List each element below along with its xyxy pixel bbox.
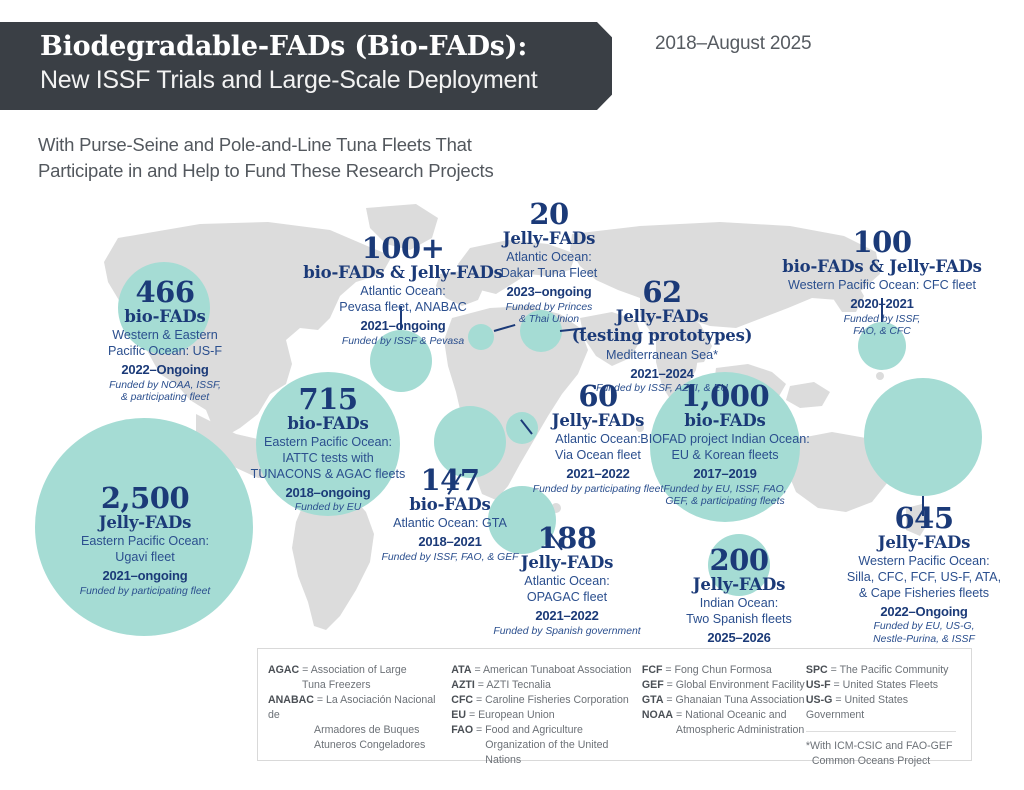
legend-item: FCF = Fong Chun Formosa (642, 663, 806, 678)
callout-where: Western Pacific Ocean: Silla, CFC, FCF, … (838, 554, 1010, 601)
callout-value: 466 (104, 278, 226, 307)
footnote-line-1: *With ICM-CSIC and FAO-GEF (806, 739, 961, 754)
legend-abbr: EU (451, 709, 466, 721)
callout-years: 2022–Ongoing (104, 362, 226, 378)
callout-cfc: 100 bio-FADs & Jelly-FADs Western Pacifi… (780, 228, 984, 339)
callout-unit: Jelly-FADs (473, 554, 661, 572)
legend-abbr: CFC (451, 694, 473, 706)
legend-def-cont: Armadores de Buques (268, 723, 445, 738)
legend-item: EU = European Union (451, 708, 642, 723)
legend-column-2: ATA = American Tunaboat Association AZTI… (451, 663, 642, 750)
callout-funded: Funded by ISSF & Pevasa (300, 336, 506, 349)
callout-unit: bio-FADs (362, 496, 538, 514)
callout-years: 2017–2019 (621, 466, 829, 482)
callout-unit: bio-FADs (236, 415, 420, 433)
callout-years: 2025–2026 (663, 630, 815, 646)
legend-item: GTA = Ghanaian Tuna Association (642, 693, 806, 708)
callout-years: 2021–2022 (473, 608, 661, 624)
legend-def-cont: Atmospheric Administration (642, 723, 806, 738)
legend-item: SPC = The Pacific Community (806, 663, 961, 678)
legend-abbr: NOAA (642, 709, 673, 721)
bubble-wpac645[interactable] (864, 378, 982, 496)
legend-abbr: AGAC (268, 664, 299, 676)
legend-def: = European Union (466, 709, 555, 721)
legend-column-4: SPC = The Pacific Community US-F = Unite… (806, 663, 961, 750)
legend-abbr: US-G (806, 694, 832, 706)
legend-footnote: *With ICM-CSIC and FAO-GEF Common Oceans… (806, 739, 961, 769)
callout-years: 2022–Ongoing (838, 604, 1010, 620)
callout-spanish: 200 Jelly-FADs Indian Ocean: Two Spanish… (663, 546, 815, 646)
callout-value: 100 (780, 228, 984, 257)
legend-def: = National Oceanic and (673, 709, 786, 721)
legend-item: AZTI = AZTI Tecnalia (451, 678, 642, 693)
legend-def: = AZTI Tecnalia (475, 679, 551, 691)
legend-def-cont: Atuneros Congeladores (268, 738, 445, 753)
legend-def: = Caroline Fisheries Corporation (473, 694, 629, 706)
callout-funded: Funded by NOAA, ISSF, & participating fl… (104, 380, 226, 405)
callout-value: 715 (236, 385, 420, 414)
callout-value: 20 (473, 200, 625, 229)
legend-divider (806, 731, 956, 732)
callout-value: 147 (362, 466, 538, 495)
callout-unit: bio-FADs & Jelly-FADs (780, 258, 984, 276)
callout-value: 62 (570, 278, 754, 307)
callout-where: Western Pacific Ocean: CFC fleet (780, 278, 984, 294)
callout-funded: Funded by EU, ISSF, FAO, GEF, & particip… (621, 484, 829, 509)
legend-abbr: US-F (806, 679, 831, 691)
legend-item: GEF = Global Environment Facility (642, 678, 806, 693)
legend-item: ANABAC = La Asociación Nacional de Armad… (268, 693, 445, 753)
legend-def-cont: Tuna Freezers (268, 678, 445, 693)
legend-abbr: ATA (451, 664, 471, 676)
legend-item: US-F = United States Fleets (806, 678, 961, 693)
callout-unit: Jelly-FADs (663, 576, 815, 594)
callout-biofad: 1,000 bio-FADs BIOFAD project Indian Oce… (621, 382, 829, 509)
callout-where: BIOFAD project Indian Ocean: EU & Korean… (621, 432, 829, 463)
callout-years: 2020–2021 (780, 296, 984, 312)
legend-item: AGAC = Association of Large Tuna Freezer… (268, 663, 445, 693)
callout-unit: Jelly-FADs (570, 308, 754, 326)
callout-unit: Jelly-FADs (473, 230, 625, 248)
legend-def: = The Pacific Community (828, 664, 949, 676)
legend-def: = Global Environment Facility (664, 679, 805, 691)
callout-unit: Jelly-FADs (52, 514, 238, 532)
callout-where: Indian Ocean: Two Spanish fleets (663, 596, 815, 627)
legend-def: = United States Fleets (831, 679, 938, 691)
legend-abbr: FAO (451, 724, 473, 736)
legend-item: CFC = Caroline Fisheries Corporation (451, 693, 642, 708)
legend-abbr: SPC (806, 664, 828, 676)
legend-abbr: GEF (642, 679, 664, 691)
legend-def: = American Tunaboat Association (472, 664, 632, 676)
callout-value: 188 (473, 524, 661, 553)
callout-years: 2021–ongoing (52, 568, 238, 584)
callout-where: Eastern Pacific Ocean: Ugavi fleet (52, 534, 238, 565)
legend-abbr: AZTI (451, 679, 475, 691)
legend-column-1: AGAC = Association of Large Tuna Freezer… (268, 663, 451, 750)
callout-ugavi: 2,500 Jelly-FADs Eastern Pacific Ocean: … (52, 484, 238, 598)
callout-where: Western & Eastern Pacific Ocean: US-F (104, 328, 226, 359)
callout-value: 200 (663, 546, 815, 575)
legend-item: ATA = American Tunaboat Association (451, 663, 642, 678)
legend-def: = Association of Large (299, 664, 406, 676)
legend-item: US-G = United States Government (806, 693, 961, 723)
legend-abbr: FCF (642, 664, 663, 676)
legend-def: = Ghanaian Tuna Association (663, 694, 804, 706)
callout-where: Atlantic Ocean: OPAGAC fleet (473, 574, 661, 605)
legend-column-3: FCF = Fong Chun Formosa GEF = Global Env… (642, 663, 806, 750)
callout-funded: Funded by ISSF, FAO, & CFC (780, 314, 984, 339)
callout-where: Mediterranean Sea* (570, 348, 754, 364)
legend-def-cont: Organization of the United Nations (451, 738, 642, 768)
footnote-line-2: Common Oceans Project (806, 754, 961, 769)
callout-value: 2,500 (52, 484, 238, 513)
legend-item: FAO = Food and Agriculture Organization … (451, 723, 642, 768)
abbreviations-legend: AGAC = Association of Large Tuna Freezer… (257, 648, 972, 761)
callout-unit: bio-FADs (104, 308, 226, 326)
legend-abbr: ANABAC (268, 694, 314, 706)
legend-item: NOAA = National Oceanic and Atmospheric … (642, 708, 806, 738)
callout-unit: Jelly-FADs (838, 534, 1010, 552)
legend-def: = Food and Agriculture (473, 724, 583, 736)
callout-usf: 466 bio-FADs Western & Eastern Pacific O… (104, 278, 226, 405)
callout-opagac: 188 Jelly-FADs Atlantic Ocean: OPAGAC fl… (473, 524, 661, 638)
callout-unit-note: (testing prototypes) (570, 327, 754, 345)
callout-unit: bio-FADs (621, 412, 829, 430)
callout-funded: Funded by participating fleet (52, 586, 238, 599)
legend-def: = Fong Chun Formosa (662, 664, 771, 676)
callout-wpac645: 645 Jelly-FADs Western Pacific Ocean: Si… (838, 504, 1010, 647)
callout-value: 1,000 (621, 382, 829, 411)
legend-abbr: GTA (642, 694, 664, 706)
callout-value: 645 (838, 504, 1010, 533)
callout-funded: Funded by EU, US-G, Nestle-Purina, & ISS… (838, 621, 1010, 646)
callout-funded: Funded by Spanish government (473, 626, 661, 639)
